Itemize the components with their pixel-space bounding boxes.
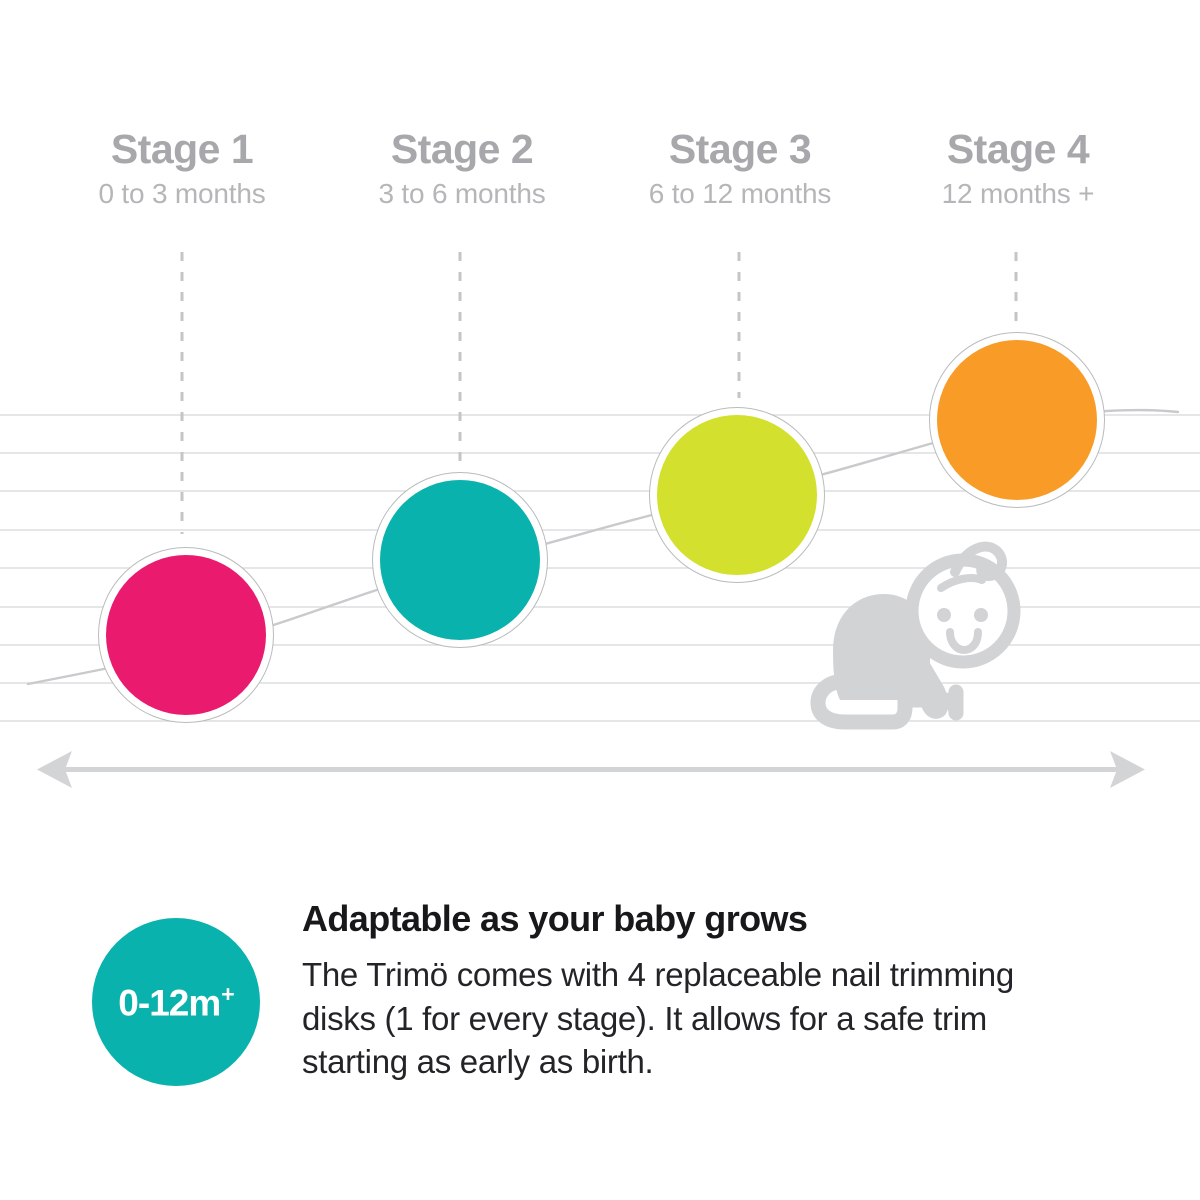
copy-heading: Adaptable as your baby grows <box>302 898 1062 939</box>
bubble-fill <box>380 480 540 640</box>
copy-body: The Trimö comes with 4 replaceable nail … <box>302 953 1050 1084</box>
bubble-fill <box>937 340 1097 500</box>
stage-bubble-1[interactable] <box>98 547 274 723</box>
infographic-page: Stage 1 0 to 3 months Stage 2 3 to 6 mon… <box>0 0 1200 1200</box>
age-range-plus: + <box>221 981 233 1007</box>
stage-bubble-3[interactable] <box>649 407 825 583</box>
age-range-badge-text: 0-12m+ <box>118 983 233 1021</box>
bubble-fill <box>657 415 817 575</box>
stage-bubble-4[interactable] <box>929 332 1105 508</box>
bubble-fill <box>106 555 266 715</box>
age-range-value: 0-12m <box>118 982 220 1023</box>
double-arrow-icon <box>37 751 1145 788</box>
stage-bubble-2[interactable] <box>372 472 548 648</box>
baby-crawling-icon <box>818 547 1014 722</box>
copy-block: Adaptable as your baby grows The Trimö c… <box>302 898 1062 1084</box>
age-range-badge: 0-12m+ <box>92 918 260 1086</box>
